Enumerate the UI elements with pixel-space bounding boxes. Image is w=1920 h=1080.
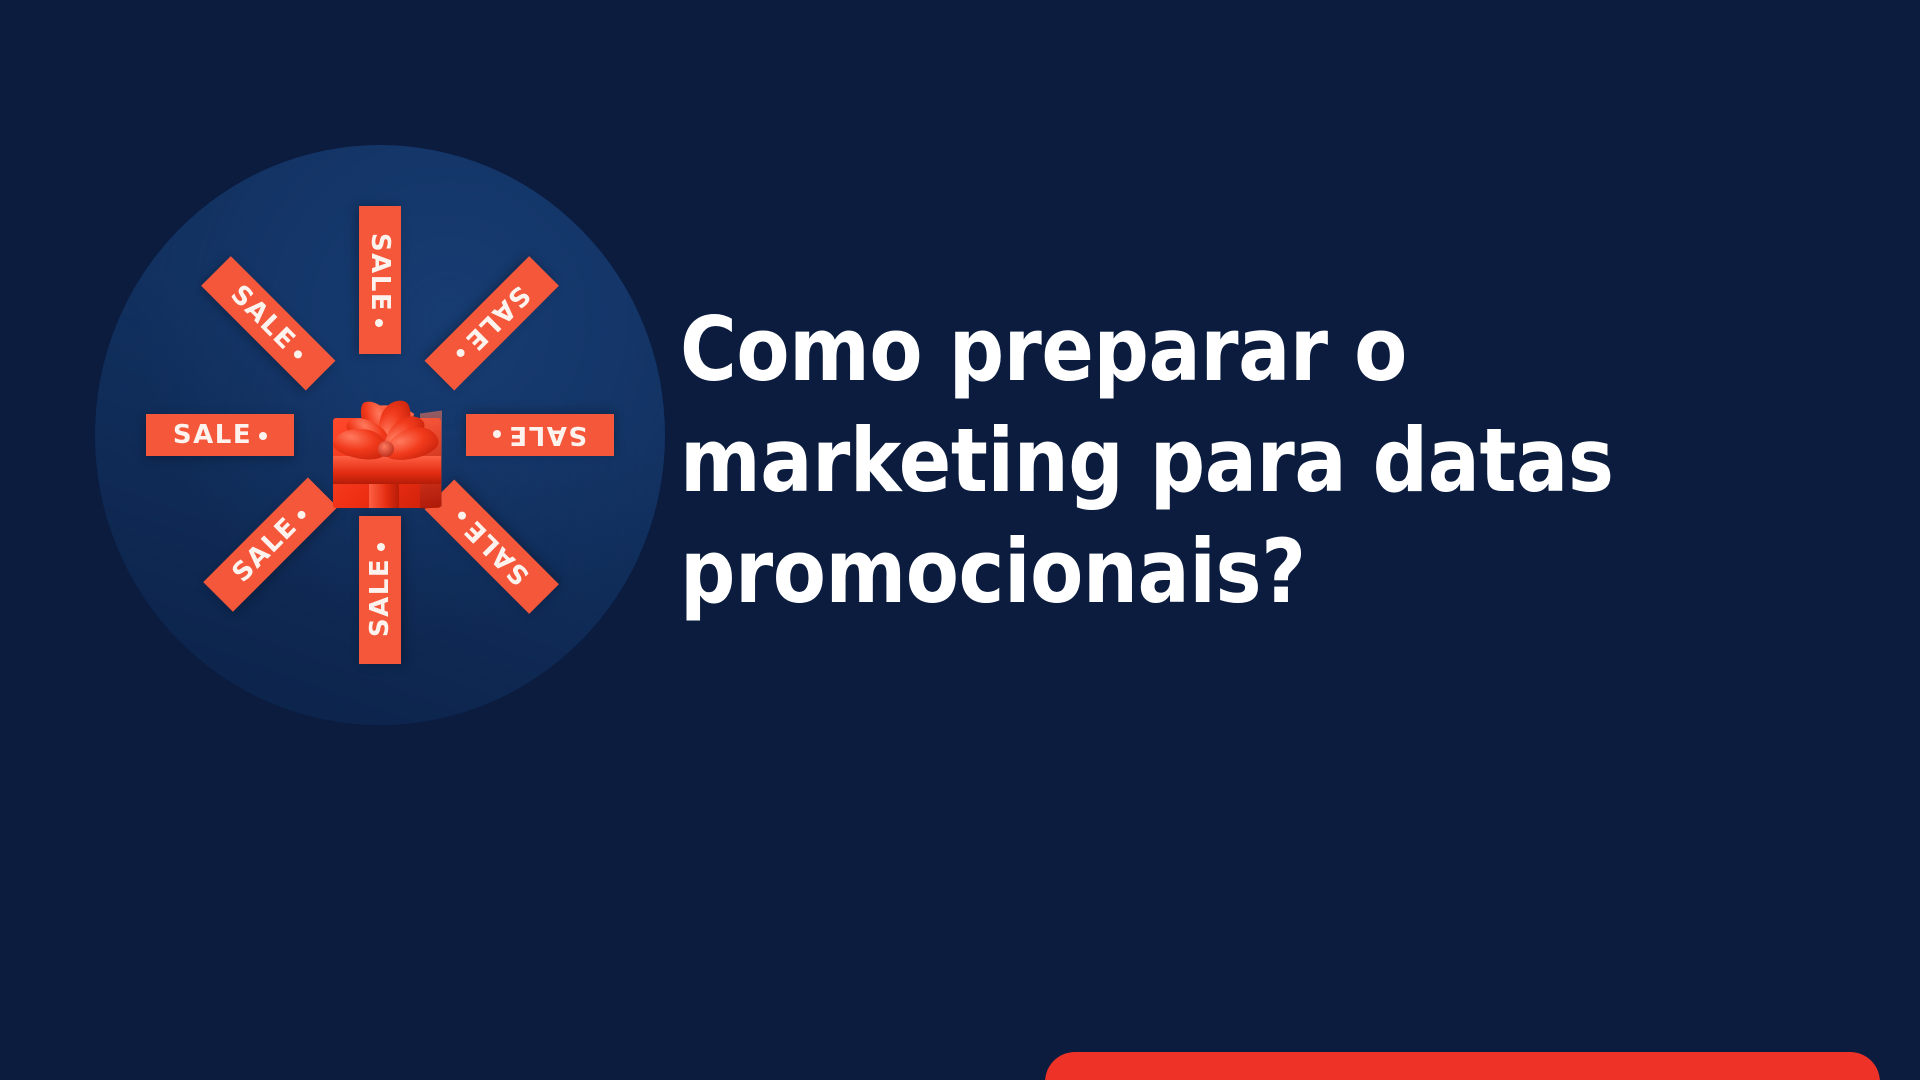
sale-gift-illustration: SALE SALE SALE SALE SALE SALE SALE SALE (95, 145, 665, 725)
dot-icon (296, 509, 307, 520)
sale-tag: SALE (425, 256, 559, 390)
sale-tag-label: SALE (458, 279, 535, 356)
page-title: Como preparar o marketing para datas pro… (680, 295, 1727, 628)
ribbon-horizontal (333, 456, 441, 484)
dot-icon (493, 430, 501, 438)
gift-box-icon (327, 390, 445, 508)
sale-tag: SALE (203, 477, 337, 611)
page-title-line-1: Como preparar o (680, 295, 1727, 406)
dot-icon (375, 319, 383, 327)
sale-tag-label: SALE (365, 233, 395, 312)
sale-tag-label: SALE (365, 558, 395, 637)
dot-icon (292, 349, 303, 360)
bow-knot (378, 441, 394, 457)
dot-icon (259, 432, 267, 440)
page-title-line-2: marketing para datas (680, 406, 1727, 517)
dot-icon (455, 347, 466, 358)
dot-icon (377, 543, 385, 551)
sale-tag: SALE (201, 256, 335, 390)
banner-canvas: SALE SALE SALE SALE SALE SALE SALE SALE (0, 0, 1920, 1080)
sale-tag: SALE (146, 414, 294, 456)
sale-tag-label: SALE (508, 420, 587, 450)
red-accent-bar (1045, 1052, 1880, 1080)
sale-tag-label: SALE (458, 513, 535, 590)
sale-tag-label: SALE (226, 511, 303, 588)
page-title-line-3: promocionais? (680, 517, 1727, 628)
sale-tag-label: SALE (173, 420, 252, 450)
sale-tag: SALE (359, 516, 401, 664)
sale-tag-label: SALE (224, 279, 301, 356)
sale-tag: SALE (359, 206, 401, 354)
sale-tag: SALE (466, 414, 614, 456)
dot-icon (456, 510, 467, 521)
